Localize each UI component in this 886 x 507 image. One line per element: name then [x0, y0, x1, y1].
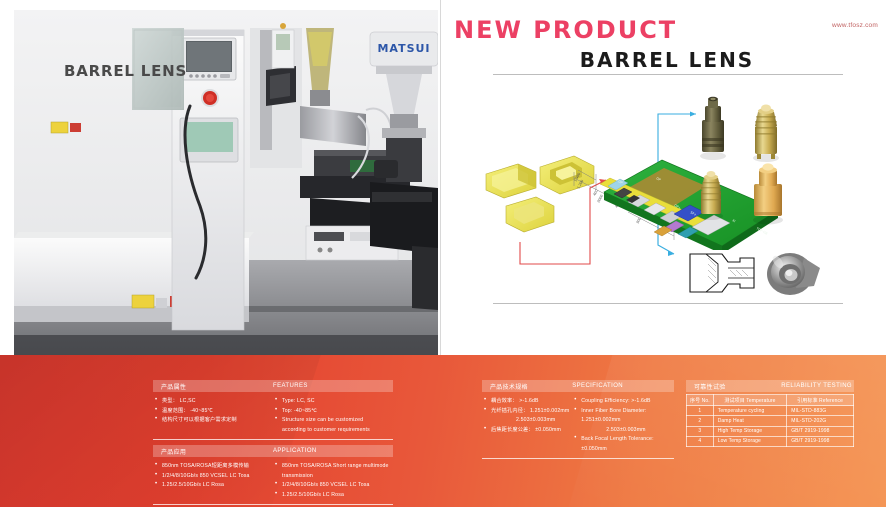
list-item: 耦合效率： >-1.6dB [482, 397, 572, 407]
column-header-item: 测试项目 Temperature [713, 395, 786, 406]
application-list-cn: 850nm TOSA/ROSA短距离多模传输 1/2/4/8/10Gb/s 85… [153, 462, 273, 500]
list-item: 850nm TOSA/ROSA短距离多模传输 [153, 462, 273, 472]
list-item: 1/2/4/8/10Gb/s 850 VCSEL LC Tosa [273, 481, 393, 491]
features-header: 产品属性 FEATURES [153, 380, 393, 392]
list-item: 光纤插孔内径： 1.251±0.002mm [482, 407, 572, 417]
photo-caption: BARREL LENS [64, 62, 187, 80]
title-underline [493, 74, 843, 75]
features-divider [153, 439, 393, 440]
features-header-cn: 产品属性 [153, 382, 273, 391]
molded-part-3 [506, 197, 554, 232]
cell-item: Temperature cycling [713, 406, 786, 416]
page-title-new-product: NEW PRODUCT [454, 16, 677, 44]
application-header-cn: 产品应用 [153, 447, 273, 456]
reliability-header-cn: 可靠性试验 [686, 382, 770, 391]
list-item: Structure size can be customized [273, 416, 393, 426]
features-list-cn: 类型： LC,SC 温度范围： -40~85℃ 结构尺寸可以根据客户需求定制 [153, 397, 273, 435]
table-row: 1 Temperature cycling MIL-STD-883G [687, 406, 854, 416]
list-item: 温度范围： -40~85℃ [153, 407, 273, 417]
cell-item: Low Temp Storage [713, 436, 786, 446]
barrel-lens-dark [700, 97, 726, 160]
vertical-divider [440, 0, 441, 355]
cell-no: 2 [687, 416, 714, 426]
application-list-en: 850nm TOSA/ROSA Short range multimode tr… [273, 462, 393, 500]
cell-ref: GB/T 2919-1998 [787, 426, 854, 436]
list-item: Inner Fiber Bore Diameter: 1.251±0.002mm [572, 407, 674, 426]
molded-part-1 [486, 164, 536, 198]
table-header-row: 序号 No. 测试项目 Temperature 引用标准 Reference [687, 395, 854, 406]
table-row: 3 High Temp Storage GB/T 2919-1998 [687, 426, 854, 436]
cell-no: 1 [687, 406, 714, 416]
cell-ref: MIL-STD-202G [787, 416, 854, 426]
svg-text:300: 300 [635, 217, 642, 225]
product-brochure-page: MATSUI BARREL LENS NEW PRODUCT www.tfosz… [0, 0, 886, 507]
cell-ref: GB/T 2919-1998 [787, 436, 854, 446]
machine-photo: MATSUI BARREL LENS [14, 10, 438, 355]
lens-photo-thumbnail [767, 253, 820, 295]
right-content-panel: NEW PRODUCT www.tfosz.com BARREL LENS [448, 0, 886, 355]
features-table: 产品属性 FEATURES 类型： LC,SC 温度范围： -40~85℃ 结构… [153, 380, 393, 440]
diagram-underline [493, 303, 843, 304]
cell-ref: MIL-STD-883G [787, 406, 854, 416]
barrel-lens-gold-ribbed [753, 105, 779, 163]
reliability-data-table: 序号 No. 测试项目 Temperature 引用标准 Reference 1… [686, 394, 854, 447]
cell-no: 4 [687, 436, 714, 446]
svg-text:MATSUI: MATSUI [377, 42, 430, 55]
application-header-en: APPLICATION [273, 448, 393, 454]
list-item-continuation: according to customer requirements [273, 426, 393, 436]
features-list-en: Type: LC, SC Top: -40~85℃ Structure size… [273, 397, 393, 435]
column-header-no: 序号 No. [687, 395, 714, 406]
list-item: 850nm TOSA/ROSA Short range multimode [273, 462, 393, 472]
list-item: Top: -40~85℃ [273, 407, 393, 417]
cell-item: Damp Heat [713, 416, 786, 426]
molded-part-2 [540, 156, 594, 194]
specification-list-cn: 耦合效率： >-1.6dB 光纤插孔内径： 1.251±0.002mm 2.50… [482, 397, 572, 454]
table-row: 4 Low Temp Storage GB/T 2919-1998 [687, 436, 854, 446]
list-item: 类型： LC,SC [153, 397, 273, 407]
lens-cross-section-drawing [686, 250, 758, 295]
list-item: Type: LC, SC [273, 397, 393, 407]
column-header-ref: 引用标准 Reference [787, 395, 854, 406]
specs-banner: 产品属性 FEATURES 类型： LC,SC 温度范围： -40~85℃ 结构… [0, 355, 886, 507]
list-item: Coupling Efficiency: >-1.6dB [572, 397, 674, 407]
pcb-board: OP OP+ SP+ OP XI TOP-GB OP [600, 160, 778, 254]
application-divider [153, 504, 393, 505]
features-header-en: FEATURES [273, 383, 393, 389]
reliability-table: 可靠性试验 RELIABILITY TESTING 序号 No. 测试项目 Te… [686, 380, 854, 447]
website-url[interactable]: www.tfosz.com [832, 22, 878, 29]
application-header: 产品应用 APPLICATION [153, 445, 393, 457]
list-item: 结构尺寸可以根据客户需求定制 [153, 416, 273, 426]
specification-header-en: SPECIFICATION [572, 383, 674, 389]
product-title: BARREL LENS [448, 48, 886, 72]
specification-header-cn: 产品技术规格 [482, 382, 572, 391]
product-diagram-svg: 1.980 1.200 40C 2000 40 300 [478, 82, 868, 297]
cell-item: High Temp Storage [713, 426, 786, 436]
product-diagram: 1.980 1.200 40C 2000 40 300 [478, 82, 868, 297]
specification-table: 产品技术规格 SPECIFICATION 耦合效率： >-1.6dB 光纤插孔内… [482, 380, 674, 459]
specification-divider [482, 458, 674, 459]
list-item: 1.25/2.5/10Gb/s LC Rosa [153, 481, 273, 491]
list-item-continuation: 2.503±0.003mm [572, 426, 674, 436]
list-item-continuation: 2.503±0.003mm [482, 416, 572, 426]
reliability-header: 可靠性试验 RELIABILITY TESTING [686, 380, 854, 392]
svg-text:2000: 2000 [596, 194, 604, 204]
svg-text:40C: 40C [592, 188, 599, 196]
list-item: 1/2/4/8/10Gb/s 850 VCSEL LC Tosa [153, 472, 273, 482]
list-item: Back Focal Length Tolerance: ±0.050mm [572, 435, 674, 454]
list-item-continuation: transmission [273, 472, 393, 482]
application-table: 产品应用 APPLICATION 850nm TOSA/ROSA短距离多模传输 … [153, 445, 393, 505]
specification-header: 产品技术规格 SPECIFICATION [482, 380, 674, 392]
list-item: 1.25/2.5/10Gb/s LC Rosa [273, 491, 393, 501]
reliability-header-en: RELIABILITY TESTING [770, 383, 854, 389]
cell-no: 3 [687, 426, 714, 436]
table-row: 2 Damp Heat MIL-STD-202G [687, 416, 854, 426]
list-item: 后焦距长度公差： ±0.050mm [482, 426, 572, 436]
specification-list-en: Coupling Efficiency: >-1.6dB Inner Fiber… [572, 397, 674, 454]
barrel-lens-tan [753, 163, 783, 224]
